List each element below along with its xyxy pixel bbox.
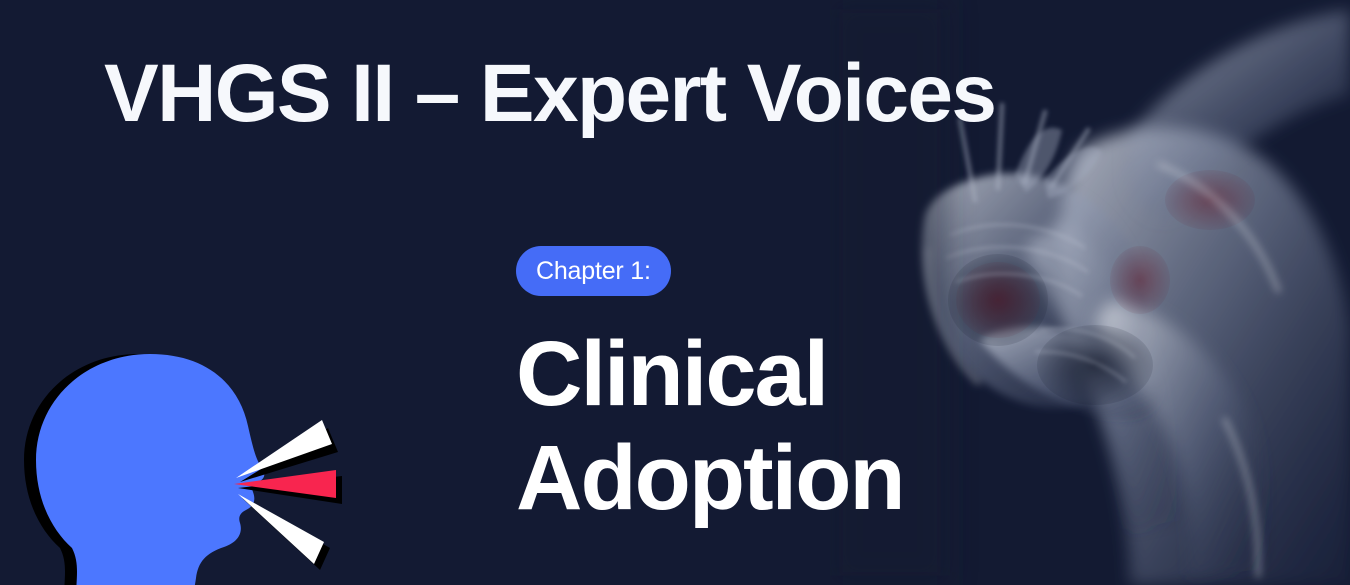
speaking-head-icon	[12, 340, 372, 585]
chapter-heading-line-2: Adoption	[516, 426, 904, 530]
speech-ray-lower	[238, 494, 324, 564]
chapter-heading-line-1: Clinical	[516, 322, 904, 426]
chapter-badge: Chapter 1:	[516, 246, 671, 296]
page-title: VHGS II – Expert Voices	[104, 44, 995, 144]
chapter-heading: Clinical Adoption	[516, 322, 904, 530]
presentation-slide: VHGS II – Expert Voices Chapter 1: Clini…	[0, 0, 1350, 585]
chapter-badge-label: Chapter 1:	[536, 257, 651, 286]
